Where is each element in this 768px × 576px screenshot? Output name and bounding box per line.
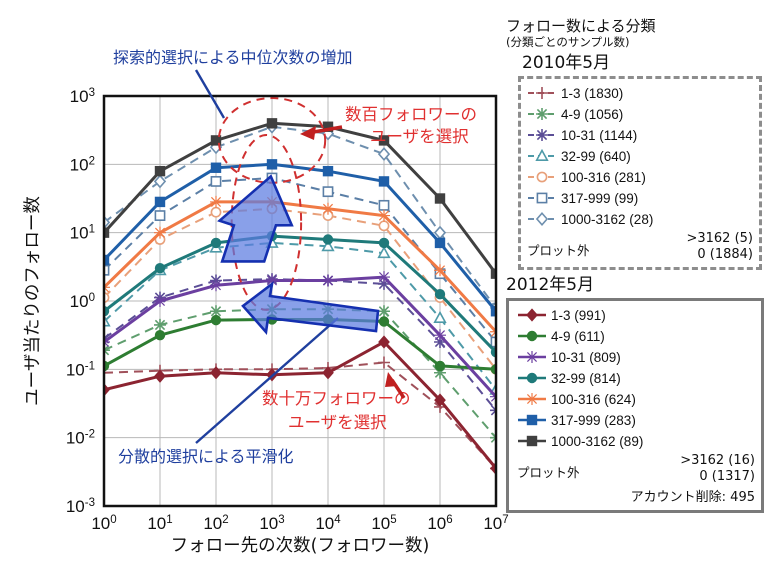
legend-marker-icon	[517, 329, 547, 343]
legend-year-2012: 2012年5月	[506, 275, 764, 295]
legend-marker-icon	[517, 350, 547, 364]
data-point-marker	[379, 238, 388, 247]
chart-figure: 100101102103104105106107 10310210110010-…	[0, 0, 520, 576]
legend-item-label: 317-999 (283)	[551, 413, 636, 428]
legend-item-label: 100-316 (624)	[551, 392, 636, 407]
data-point-marker	[378, 305, 390, 317]
legend-items-2010: 1-3 (1830)4-9 (1056)10-31 (1144)32-99 (6…	[527, 83, 753, 230]
axis-tick-label: 107	[483, 514, 508, 533]
data-point-marker	[527, 310, 537, 322]
axis-tick-label: 103	[259, 514, 284, 533]
legend-marker-icon	[527, 191, 557, 205]
legend-item[interactable]: 100-316 (281)	[527, 167, 753, 188]
legend-outside-value-2010-0: >3162 (5)	[592, 231, 753, 247]
annotation-top-red-line1: 数百フォロワーの	[345, 105, 477, 124]
legend-title: フォロー数による分類	[506, 18, 764, 35]
legend-deleted-accounts: アカウント削除: 495	[517, 485, 755, 505]
data-point-marker	[537, 173, 546, 182]
legend-outside-value-2012-0: >3162 (16)	[582, 453, 755, 469]
legend-group-2010: 1-3 (1830)4-9 (1056)10-31 (1144)32-99 (6…	[518, 76, 762, 271]
data-point-marker	[527, 374, 536, 383]
legend-item[interactable]: 1000-3162 (89)	[517, 431, 755, 452]
data-point-marker	[210, 279, 222, 291]
annotation-bottom-blue-text: 分散的選択による平滑化	[118, 447, 294, 466]
legend-item[interactable]: 4-9 (1056)	[527, 104, 753, 125]
legend-item[interactable]: 4-9 (611)	[517, 326, 755, 347]
legend-item[interactable]: 32-99 (640)	[527, 146, 753, 167]
data-point-marker	[154, 227, 166, 239]
data-point-marker	[155, 264, 164, 273]
data-point-marker	[536, 129, 548, 141]
legend-item-label: 4-9 (1056)	[561, 107, 623, 122]
data-point-marker	[537, 214, 547, 226]
data-point-marker	[211, 316, 220, 325]
axis-tick-label: 103	[70, 87, 95, 106]
data-point-marker	[526, 393, 538, 405]
legend-subtitle: (分類ごとのサンプル数)	[506, 36, 764, 49]
annotation-bottom-red-line1: 数十万フォロワーの	[262, 389, 411, 408]
big-arrow-left	[243, 284, 378, 332]
data-point-marker	[154, 319, 166, 331]
data-point-marker	[211, 177, 220, 186]
legend-marker-icon	[527, 128, 557, 142]
annotation-top-blue: 探索的選択による中位次数の増加	[113, 48, 353, 118]
legend-marker-icon	[517, 371, 547, 385]
legend-item-label: 1000-3162 (28)	[561, 212, 653, 227]
data-point-marker	[155, 211, 164, 220]
legend-item[interactable]: 10-31 (1144)	[527, 125, 753, 146]
legend-marker-icon	[527, 149, 557, 163]
legend-item[interactable]: 1000-3162 (28)	[527, 209, 753, 230]
axis-tick-label: 105	[371, 514, 396, 533]
chart-page: 100101102103104105106107 10310210110010-…	[0, 0, 768, 576]
y-axis-ticks: 10310210110010-110-210-3	[66, 87, 95, 516]
data-point-marker	[155, 370, 165, 382]
legend-marker-icon	[527, 86, 557, 100]
legend-item-label: 32-99 (814)	[551, 371, 621, 386]
data-point-marker	[379, 317, 388, 326]
data-point-marker	[267, 160, 276, 169]
annotation-bottom-red-arrow-head	[385, 372, 398, 387]
data-point-marker	[435, 361, 444, 370]
x-axis-label: フォロー先の次数(フォロワー数)	[171, 536, 430, 556]
legend-item-label: 32-99 (640)	[561, 149, 631, 164]
data-point-marker	[379, 201, 388, 210]
legend-item-label: 4-9 (611)	[551, 329, 605, 344]
axis-tick-label: 102	[70, 155, 95, 174]
data-point-marker	[527, 332, 536, 341]
axis-tick-label: 10-1	[66, 360, 95, 379]
data-point-marker	[154, 295, 166, 307]
legend-marker-icon	[517, 392, 547, 406]
data-point-marker	[379, 221, 388, 230]
axis-tick-label: 104	[315, 514, 341, 533]
annotation-top-blue-text: 探索的選択による中位次数の増加	[113, 48, 353, 67]
legend-item[interactable]: 1-3 (991)	[517, 305, 755, 326]
legend-outside-label-2010: プロット外	[527, 231, 590, 259]
axis-tick-label: 106	[427, 514, 452, 533]
legend-item[interactable]: 317-999 (283)	[517, 410, 755, 431]
legend-item-label: 1000-3162 (89)	[551, 434, 643, 449]
data-point-marker	[323, 187, 332, 196]
legend-marker-icon	[517, 413, 547, 427]
legend-item-label: 10-31 (1144)	[561, 128, 637, 143]
data-point-marker	[527, 437, 536, 446]
legend-item[interactable]: 32-99 (814)	[517, 368, 755, 389]
annotation-top-blue-leader	[196, 70, 224, 118]
annotation-bottom-red-line2: ユーザを選択	[288, 413, 387, 432]
axis-tick-label: 10-2	[66, 429, 95, 448]
data-point-marker	[211, 208, 220, 217]
data-point-marker	[434, 264, 446, 276]
legend-items-2012: 1-3 (991)4-9 (611)10-31 (809)32-99 (814)…	[517, 305, 755, 452]
legend-marker-icon	[527, 170, 557, 184]
data-point-marker	[323, 167, 332, 176]
legend-outside-2012: プロット外 >3162 (16) 0 (1317)	[517, 453, 755, 486]
axis-tick-label: 101	[147, 514, 172, 533]
legend-item-label: 1-3 (1830)	[561, 86, 623, 101]
data-point-marker	[537, 194, 546, 203]
data-point-marker	[435, 194, 444, 203]
axis-tick-label: 100	[91, 514, 116, 533]
legend-item[interactable]: 100-316 (624)	[517, 389, 755, 410]
data-point-marker	[536, 87, 548, 99]
axis-tick-label: 100	[70, 292, 95, 311]
data-point-marker	[211, 238, 220, 247]
data-point-marker	[435, 290, 444, 299]
axis-tick-label: 101	[70, 224, 95, 243]
legend-marker-icon	[517, 308, 547, 322]
legend-marker-icon	[517, 434, 547, 448]
legend-group-2012: 1-3 (991)4-9 (611)10-31 (809)32-99 (814)…	[506, 298, 764, 514]
legend-outside-value-2012-1: 0 (1317)	[582, 469, 755, 485]
big-arrow-left-shape	[243, 284, 378, 332]
legend-outside-value-2010-1: 0 (1884)	[592, 247, 753, 263]
data-point-marker	[536, 108, 548, 120]
data-point-marker	[435, 238, 444, 247]
legend-item[interactable]: 1-3 (1830)	[527, 83, 753, 104]
legend-outside-2010: プロット外 >3162 (5) 0 (1884)	[527, 231, 753, 264]
annotation-bottom-red: 数十万フォロワーの ユーザを選択	[262, 372, 411, 432]
data-point-marker	[526, 351, 538, 363]
legend-marker-icon	[527, 107, 557, 121]
annotation-top-red-line2: ユーザを選択	[370, 127, 469, 146]
data-point-marker	[435, 313, 446, 323]
data-point-marker	[378, 210, 390, 222]
legend-item-label: 100-316 (281)	[561, 170, 646, 185]
legend-item[interactable]: 317-999 (99)	[527, 188, 753, 209]
data-point-marker	[378, 271, 390, 283]
data-point-marker	[322, 275, 334, 287]
data-point-marker	[267, 119, 276, 128]
legend-panel: フォロー数による分類 (分類ごとのサンプル数) 2010年5月 1-3 (183…	[506, 18, 764, 513]
data-point-marker	[323, 235, 332, 244]
data-point-marker	[379, 177, 388, 186]
axis-tick-label: 102	[203, 514, 228, 533]
legend-item-label: 10-31 (809)	[551, 350, 621, 365]
data-point-marker	[322, 203, 334, 215]
data-point-marker	[434, 329, 446, 341]
data-point-marker	[155, 167, 164, 176]
legend-outside-label-2012: プロット外	[517, 453, 580, 481]
data-point-marker	[155, 176, 165, 188]
data-point-marker	[527, 416, 536, 425]
data-point-marker	[155, 331, 164, 340]
x-axis-ticks: 100101102103104105106107	[91, 514, 508, 533]
annotation-top-red-arrow-head	[300, 126, 316, 140]
legend-year-2010: 2010年5月	[522, 53, 764, 73]
data-point-marker	[210, 196, 222, 208]
data-point-marker	[211, 163, 220, 172]
legend-item-label: 317-999 (99)	[561, 191, 638, 206]
legend-marker-icon	[527, 212, 557, 226]
data-point-marker	[155, 197, 164, 206]
y-axis-label: ユーザ当たりのフォロー数	[23, 196, 43, 406]
legend-item[interactable]: 10-31 (809)	[517, 347, 755, 368]
legend-item-label: 1-3 (991)	[551, 308, 606, 323]
